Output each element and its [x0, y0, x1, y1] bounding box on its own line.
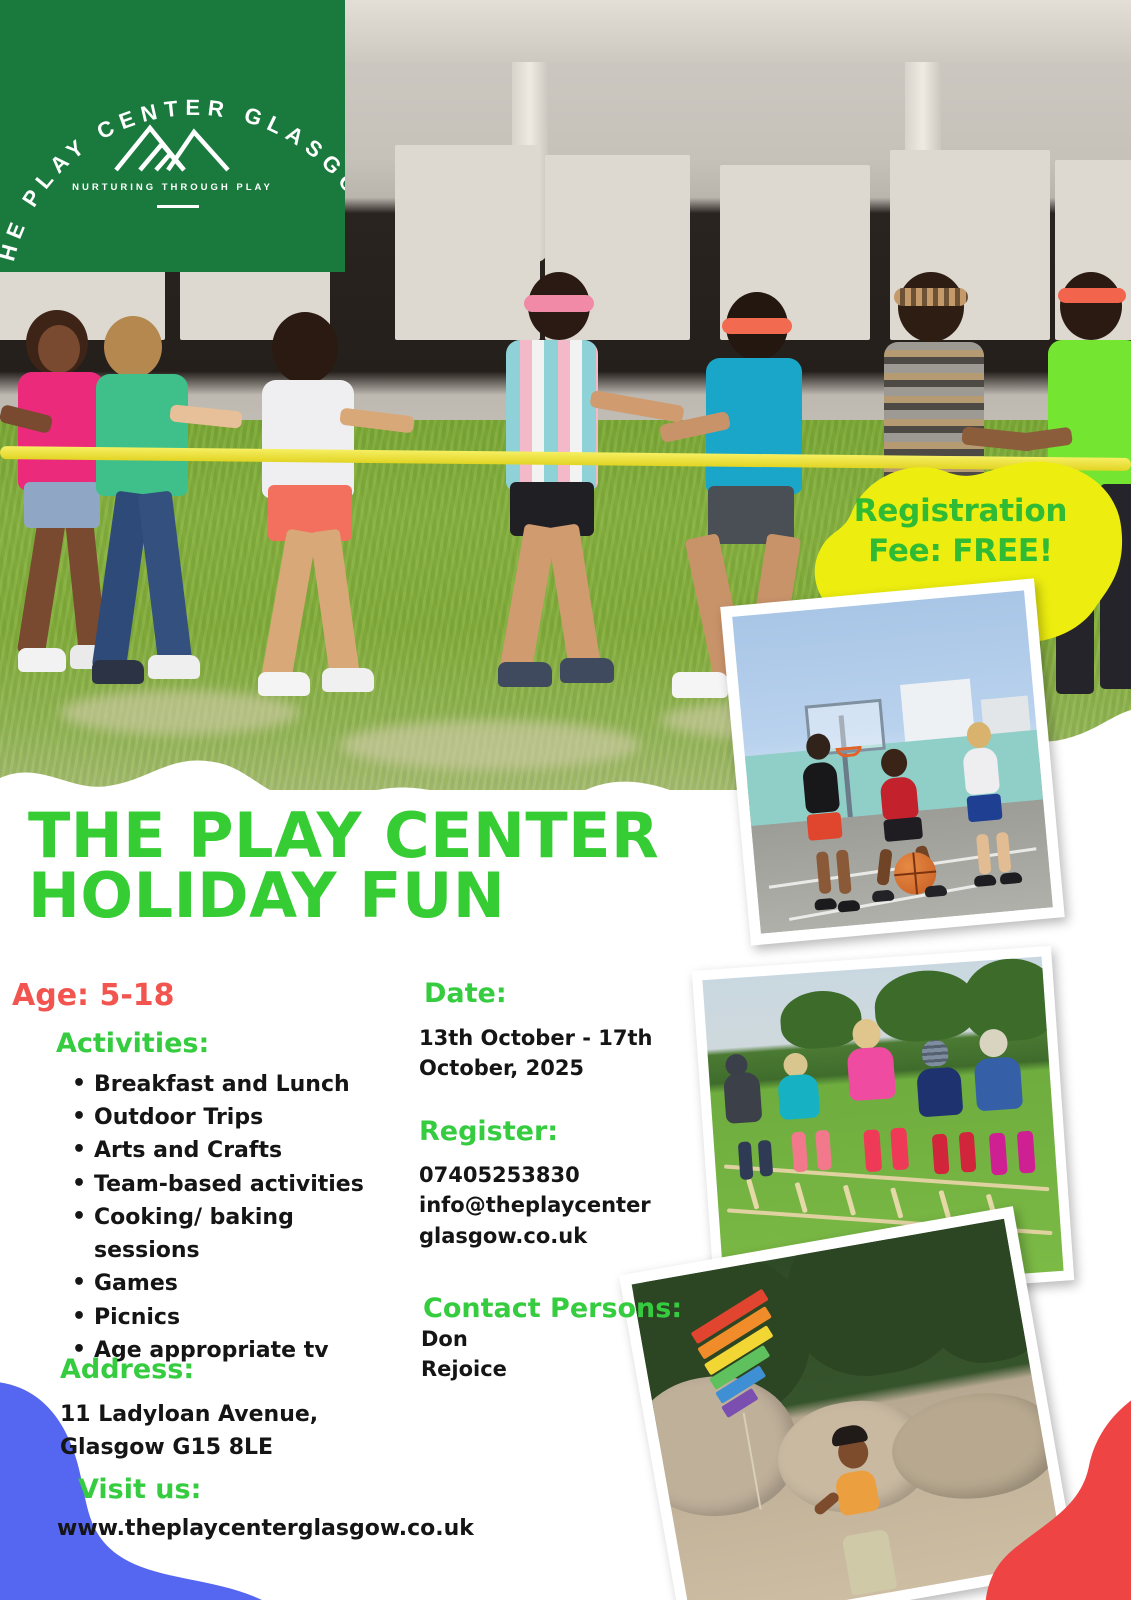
date-body: 13th October - 17th October, 2025 — [419, 1023, 679, 1084]
list-item: Picnics — [64, 1301, 404, 1334]
list-item: Breakfast and Lunch — [64, 1068, 404, 1101]
basketball-photo — [720, 578, 1065, 945]
list-item: Outdoor Trips — [64, 1101, 404, 1134]
fee-line-1: Registration — [828, 492, 1093, 532]
date-line-1: 13th October - 17th — [419, 1023, 679, 1053]
address-heading: Address: — [60, 1354, 194, 1385]
address-body: 11 Ladyloan Avenue, Glasgow G15 8LE — [60, 1398, 390, 1464]
register-email-line-1[interactable]: info@theplaycenter — [419, 1190, 669, 1220]
title-line-1: THE PLAY CENTER — [28, 806, 708, 866]
mountain-icon — [112, 118, 232, 176]
contact-persons-heading: Contact Persons: — [423, 1293, 682, 1324]
flyer-page: THE PLAY CENTER GLASGOW C.I.C. NURTURING… — [0, 0, 1131, 1600]
logo-badge: THE PLAY CENTER GLASGOW C.I.C. NURTURING… — [0, 0, 345, 272]
visit-heading: Visit us: — [78, 1474, 201, 1505]
contact-name: Rejoice — [421, 1354, 641, 1384]
red-decor-blob — [985, 1382, 1131, 1600]
title-line-2: HOLIDAY FUN — [28, 866, 708, 926]
register-phone[interactable]: 07405253830 — [419, 1160, 669, 1190]
logo-tagline: NURTURING THROUGH PLAY — [0, 182, 345, 193]
list-item: Team-based activities — [64, 1168, 404, 1201]
bleacher-block — [395, 145, 540, 340]
activities-heading: Activities: — [56, 1028, 209, 1059]
register-body: 07405253830 info@theplaycenter glasgow.c… — [419, 1160, 669, 1251]
website-url[interactable]: www.theplaycenterglasgow.co.uk — [57, 1516, 474, 1541]
fee-line-2: Fee: FREE! — [828, 532, 1093, 572]
contact-persons-body: Don Rejoice — [421, 1324, 641, 1385]
contact-name: Don — [421, 1324, 641, 1354]
age-range: Age: 5-18 — [12, 978, 175, 1013]
list-item: Games — [64, 1267, 404, 1300]
page-title: THE PLAY CENTER HOLIDAY FUN — [28, 806, 708, 926]
date-heading: Date: — [424, 978, 507, 1009]
register-heading: Register: — [419, 1116, 558, 1147]
registration-fee-text: Registration Fee: FREE! — [828, 492, 1093, 571]
register-email-line-2[interactable]: glasgow.co.uk — [419, 1221, 669, 1251]
activities-list: Breakfast and Lunch Outdoor Trips Arts a… — [64, 1068, 404, 1367]
address-line-1: 11 Ladyloan Avenue, — [60, 1398, 390, 1431]
list-item: Cooking/ baking sessions — [64, 1201, 404, 1267]
address-line-2: Glasgow G15 8LE — [60, 1431, 390, 1464]
logo-divider — [157, 205, 199, 208]
date-line-2: October, 2025 — [419, 1053, 679, 1083]
list-item: Arts and Crafts — [64, 1134, 404, 1167]
